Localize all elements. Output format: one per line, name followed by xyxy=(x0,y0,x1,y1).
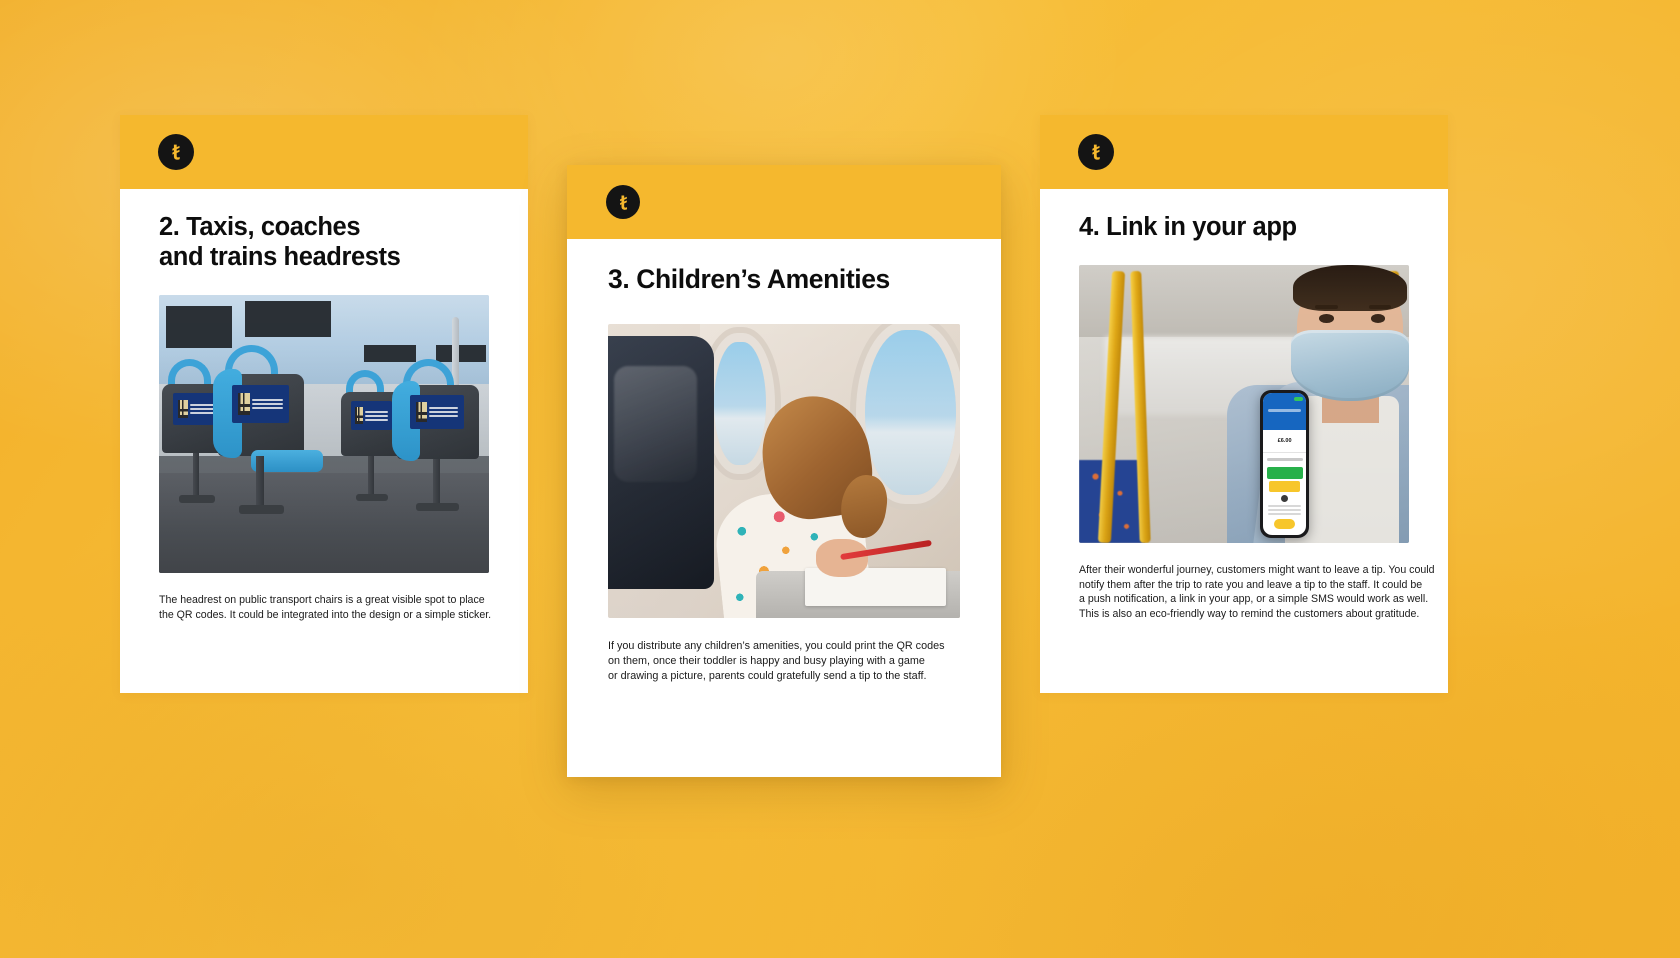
tip-amount-slider xyxy=(1263,453,1306,466)
caption-line-1: After their wonderful journey, customers… xyxy=(1079,563,1409,578)
confirm-button xyxy=(1267,467,1303,480)
sign-text-lines xyxy=(365,411,387,421)
app-footer-text xyxy=(1268,505,1301,517)
seat-leg xyxy=(368,456,374,496)
caption-line-4: This is also an eco-friendly way to remi… xyxy=(1079,607,1409,622)
title-line-2: and trains headrests xyxy=(159,243,400,271)
airplane-seat xyxy=(608,336,714,589)
card-link-in-your-app[interactable]: 4. Link in your app xyxy=(1040,115,1448,693)
title-line-1: 3. Children’s Amenities xyxy=(608,264,890,294)
card-header-app xyxy=(1040,115,1448,189)
presentation-canvas: { "background": { "color": "#F5B82E", "a… xyxy=(0,0,1680,958)
train-seat xyxy=(397,359,480,459)
pay-button xyxy=(1269,481,1300,492)
photo-train-seats xyxy=(159,295,489,573)
app-cta-pill xyxy=(1274,519,1295,529)
train-seat xyxy=(218,345,304,456)
tipjar-lira-logo-icon xyxy=(158,134,194,170)
caption-line-2: the QR codes. It could be integrated int… xyxy=(159,608,489,623)
app-logo-icon xyxy=(1281,495,1288,502)
headrest-qr-sign xyxy=(410,395,464,429)
window-pane xyxy=(245,301,331,337)
headrest-qr-sign xyxy=(173,393,219,425)
qr-code-icon xyxy=(238,393,250,415)
page-title-app: 4. Link in your app xyxy=(1079,212,1409,242)
seat-foot xyxy=(179,495,215,503)
caption-line-3: or drawing a picture, parents could grat… xyxy=(608,669,960,684)
caption-app: After their wonderful journey, customers… xyxy=(1079,563,1409,621)
card-header-kids xyxy=(567,165,1001,239)
qr-code-icon xyxy=(416,402,427,422)
card-body-taxis: 2. Taxis, coaches and trains headrests xyxy=(120,212,528,622)
photo-child-airplane-window xyxy=(608,324,960,618)
seat-leg xyxy=(193,453,199,496)
tip-amount-value: £6.00 xyxy=(1263,430,1306,453)
card-childrens-amenities[interactable]: 3. Children’s Amenities If you distribut… xyxy=(567,165,1001,777)
page-title-taxis: 2. Taxis, coaches and trains headrests xyxy=(159,212,489,272)
app-header-bar xyxy=(1263,393,1306,430)
caption-kids: If you distribute any children’s ameniti… xyxy=(608,639,960,685)
eye xyxy=(1319,314,1333,323)
caption-line-1: If you distribute any children’s ameniti… xyxy=(608,639,960,654)
qr-code-icon xyxy=(355,407,363,424)
seat-leg xyxy=(256,456,264,507)
smartphone: £6.00 xyxy=(1260,390,1309,537)
phone-screen: £6.00 xyxy=(1263,393,1306,534)
caption-line-2: notify them after the trip to rate you a… xyxy=(1079,578,1409,593)
sign-text-lines xyxy=(429,407,458,417)
headrest-qr-sign xyxy=(351,401,392,430)
seat-foot xyxy=(239,505,284,514)
card-header-taxis xyxy=(120,115,528,189)
seat-foot xyxy=(416,503,459,511)
passenger-figure: £6.00 xyxy=(1211,271,1409,543)
seat-foot xyxy=(356,494,389,501)
qr-code-icon xyxy=(178,400,187,419)
headrest-qr-sign xyxy=(232,385,289,423)
caption-line-3: a push notification, a link in your app,… xyxy=(1079,592,1409,607)
eyebrow xyxy=(1369,305,1392,310)
face-mask xyxy=(1291,330,1409,401)
title-line-1: 2. Taxis, coaches xyxy=(159,213,360,241)
caption-line-2: on them, once their toddler is happy and… xyxy=(608,654,960,669)
photo-masked-passenger-phone: £6.00 xyxy=(1079,265,1409,543)
tipjar-lira-logo-icon xyxy=(1078,134,1114,170)
window-pane xyxy=(166,306,232,348)
eye xyxy=(1371,314,1385,323)
page-title-kids: 3. Children’s Amenities xyxy=(608,263,960,295)
title-line-1: 4. Link in your app xyxy=(1079,213,1297,241)
caption-taxis: The headrest on public transport chairs … xyxy=(159,593,489,622)
eyebrow xyxy=(1315,305,1338,310)
caption-line-1: The headrest on public transport chairs … xyxy=(159,593,489,608)
card-body-kids: 3. Children’s Amenities If you distribut… xyxy=(567,263,1001,685)
sign-text-lines xyxy=(190,404,215,414)
card-taxis-coaches-trains[interactable]: 2. Taxis, coaches and trains headrests xyxy=(120,115,528,693)
tipjar-lira-logo-icon xyxy=(606,185,640,219)
card-body-app: 4. Link in your app xyxy=(1040,212,1448,621)
sign-text-lines xyxy=(252,399,282,409)
seat-leg xyxy=(433,459,440,505)
